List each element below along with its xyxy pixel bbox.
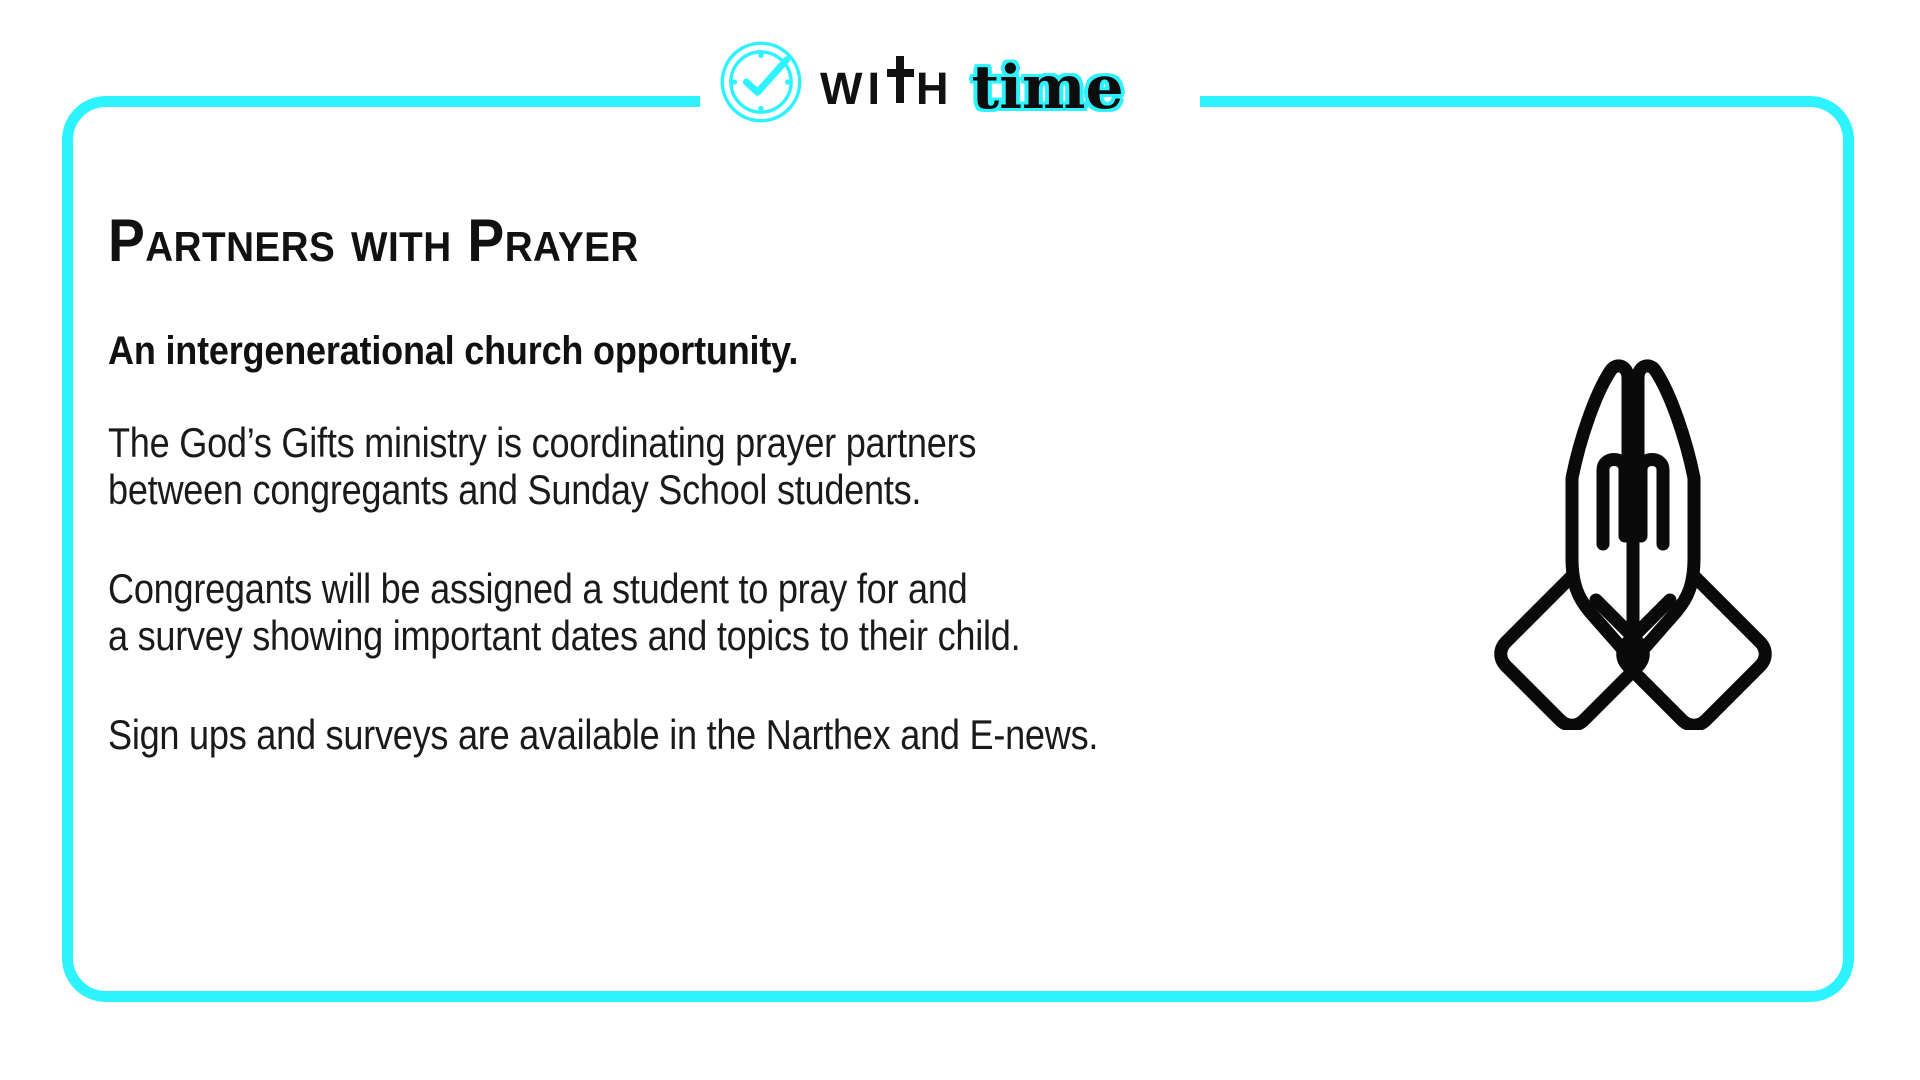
subheading: An intergenerational church opportunity. xyxy=(108,329,1350,373)
body-paragraph-1: The God’s Gifts ministry is coordinating… xyxy=(108,419,1295,513)
body-paragraph-2: Congregants will be assigned a student t… xyxy=(108,565,1295,659)
praying-hands-icon xyxy=(1468,348,1798,730)
body-paragraph-3: Sign ups and surveys are available in th… xyxy=(108,711,1295,758)
cross-t-icon xyxy=(887,59,914,104)
logo-with-suffix: H xyxy=(916,66,954,111)
clock-check-icon xyxy=(718,39,804,125)
logo-word-time: time xyxy=(971,58,1123,118)
spacer xyxy=(108,373,1488,419)
page-title: Partners with Prayer xyxy=(108,210,1378,271)
spacer xyxy=(108,271,1488,329)
content-block: Partners with Prayer An intergenerationa… xyxy=(108,210,1488,758)
logo-with-prefix: WI xyxy=(820,66,885,111)
spacer xyxy=(108,513,1488,565)
logo-word-with: WIH xyxy=(820,59,953,111)
slide-canvas: WIH time Partners with Prayer An interge… xyxy=(0,0,1920,1080)
brand-logo-lockup: WIH time xyxy=(718,36,1188,128)
spacer xyxy=(108,659,1488,711)
logo-wordmark: WIH time xyxy=(820,54,1124,114)
